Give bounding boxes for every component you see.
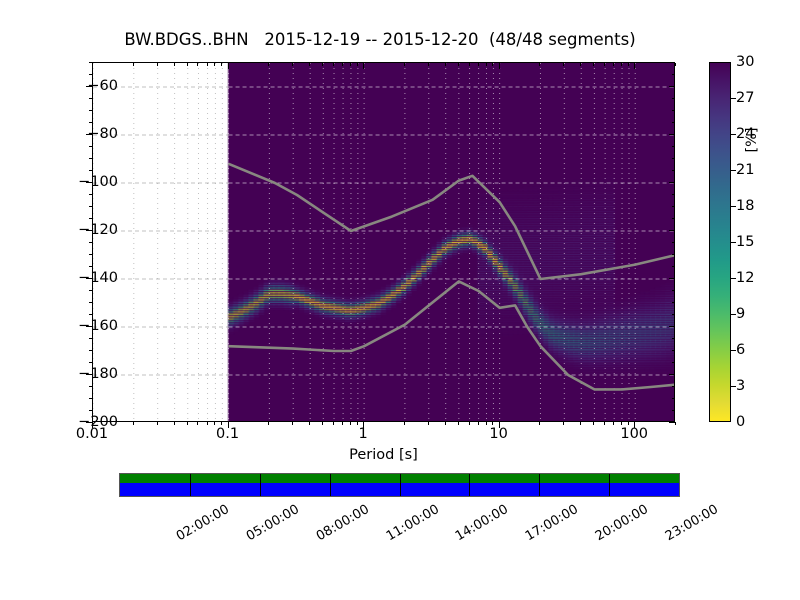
y-minor-tick: [89, 110, 92, 111]
y-minor-tick: [89, 146, 92, 147]
x-minor-tick: [357, 63, 358, 66]
colorbar-tick-label: 12: [736, 270, 796, 286]
coverage-time-label: 05:00:00: [244, 502, 302, 544]
y-tick-mark: [669, 86, 675, 87]
x-minor-tick: [492, 63, 493, 66]
page-title: BW.BDGS..BHN 2015-12-19 -- 2015-12-20 (4…: [0, 30, 760, 49]
x-minor-tick: [613, 63, 614, 66]
y-tick-mark: [669, 326, 675, 327]
colorbar-tick-label: 18: [736, 198, 796, 214]
coverage-separator: [609, 474, 610, 496]
ppsd-density-heatmap: [93, 63, 674, 421]
x-minor-tick: [207, 63, 208, 66]
y-minor-tick: [672, 194, 675, 195]
y-tick-mark: [669, 278, 675, 279]
y-tick-mark: [86, 278, 92, 279]
y-minor-tick: [89, 194, 92, 195]
x-tick-mark: [634, 422, 635, 428]
y-minor-tick: [89, 302, 92, 303]
colorbar-tick-mark: [731, 134, 736, 135]
x-minor-tick: [604, 422, 605, 425]
y-minor-tick: [672, 290, 675, 291]
y-minor-tick: [89, 314, 92, 315]
x-minor-tick: [350, 422, 351, 425]
colorbar-tick-mark: [731, 386, 736, 387]
x-minor-tick: [292, 422, 293, 425]
y-minor-tick: [672, 110, 675, 111]
x-minor-tick: [214, 422, 215, 425]
y-tick-mark: [669, 134, 675, 135]
x-minor-tick: [214, 63, 215, 66]
y-minor-tick: [672, 362, 675, 363]
x-axis-label: Period [s]: [92, 447, 675, 463]
x-minor-tick: [157, 422, 158, 425]
x-minor-tick: [221, 63, 222, 66]
x-minor-tick: [628, 63, 629, 66]
x-minor-tick: [221, 422, 222, 425]
x-minor-tick: [628, 422, 629, 425]
x-minor-tick: [621, 422, 622, 425]
y-minor-tick: [89, 170, 92, 171]
x-tick-mark: [634, 63, 635, 69]
y-minor-tick: [672, 74, 675, 75]
y-minor-tick: [89, 266, 92, 267]
coverage-separator: [539, 474, 540, 496]
y-tick-mark: [86, 374, 92, 375]
y-minor-tick: [89, 98, 92, 99]
y-tick-label: −60: [0, 78, 118, 94]
y-tick-mark: [86, 134, 92, 135]
x-minor-tick: [357, 422, 358, 425]
x-minor-tick: [478, 422, 479, 425]
x-minor-tick: [197, 63, 198, 66]
coverage-time-label: 08:00:00: [314, 502, 372, 544]
x-minor-tick: [404, 422, 405, 425]
y-tick-mark: [86, 86, 92, 87]
ppsd-axes[interactable]: [92, 62, 675, 422]
x-tick-mark: [92, 422, 93, 428]
x-minor-tick: [187, 63, 188, 66]
x-minor-tick: [322, 422, 323, 425]
x-minor-tick: [322, 63, 323, 66]
y-tick-mark: [86, 182, 92, 183]
x-minor-tick: [613, 422, 614, 425]
y-minor-tick: [672, 266, 675, 267]
colorbar-tick-mark: [731, 242, 736, 243]
coverage-time-label: 20:00:00: [593, 502, 651, 544]
x-tick-mark: [228, 63, 229, 69]
x-tick-mark: [228, 422, 229, 428]
x-minor-tick: [675, 63, 676, 66]
x-tick-label: 10: [439, 426, 559, 442]
y-minor-tick: [89, 362, 92, 363]
y-tick-label: −120: [0, 222, 118, 238]
y-minor-tick: [672, 242, 675, 243]
y-minor-tick: [89, 386, 92, 387]
x-minor-tick: [333, 63, 334, 66]
x-minor-tick: [478, 63, 479, 66]
x-tick-mark: [499, 422, 500, 428]
x-minor-tick: [604, 63, 605, 66]
x-minor-tick: [486, 422, 487, 425]
x-minor-tick: [428, 422, 429, 425]
y-minor-tick: [672, 398, 675, 399]
y-minor-tick: [672, 146, 675, 147]
colorbar-tick-mark: [731, 98, 736, 99]
coverage-separator: [260, 474, 261, 496]
coverage-time-label: 02:00:00: [174, 502, 232, 544]
colorbar-tick-mark: [731, 206, 736, 207]
colorbar-tick-mark: [731, 278, 736, 279]
x-minor-tick: [469, 422, 470, 425]
coverage-time-label: 23:00:00: [663, 502, 721, 544]
y-tick-label: −100: [0, 174, 118, 190]
x-minor-tick: [350, 63, 351, 66]
colorbar-tick-label: 0: [736, 414, 796, 430]
y-tick-label: −160: [0, 318, 118, 334]
y-minor-tick: [672, 338, 675, 339]
y-tick-label: −180: [0, 366, 118, 382]
colorbar-tick-label: 30: [736, 54, 796, 70]
y-minor-tick: [89, 398, 92, 399]
coverage-time-label: 14:00:00: [453, 502, 511, 544]
x-minor-tick: [133, 63, 134, 66]
y-minor-tick: [672, 302, 675, 303]
x-minor-tick: [445, 422, 446, 425]
x-minor-tick: [309, 422, 310, 425]
x-minor-tick: [445, 63, 446, 66]
x-minor-tick: [593, 422, 594, 425]
y-minor-tick: [89, 218, 92, 219]
y-minor-tick: [672, 206, 675, 207]
y-tick-mark: [86, 326, 92, 327]
y-tick-label: −80: [0, 126, 118, 142]
colorbar-label: [%]: [744, 80, 760, 200]
y-minor-tick: [672, 122, 675, 123]
x-minor-tick: [174, 422, 175, 425]
x-minor-tick: [197, 422, 198, 425]
x-minor-tick: [268, 63, 269, 66]
y-minor-tick: [89, 290, 92, 291]
colorbar-tick-label: 15: [736, 234, 796, 250]
y-minor-tick: [672, 254, 675, 255]
x-minor-tick: [342, 63, 343, 66]
x-minor-tick: [428, 63, 429, 66]
y-minor-tick: [89, 338, 92, 339]
y-minor-tick: [89, 350, 92, 351]
colorbar-tick-mark: [731, 170, 736, 171]
x-minor-tick: [342, 422, 343, 425]
y-minor-tick: [672, 386, 675, 387]
y-minor-tick: [89, 158, 92, 159]
y-tick-mark: [669, 230, 675, 231]
coverage-separator: [469, 474, 470, 496]
x-minor-tick: [621, 63, 622, 66]
x-tick-label: 1: [303, 426, 423, 442]
y-minor-tick: [89, 74, 92, 75]
x-minor-tick: [580, 63, 581, 66]
data-coverage-bar[interactable]: [119, 473, 680, 497]
x-minor-tick: [187, 422, 188, 425]
x-minor-tick: [469, 63, 470, 66]
x-minor-tick: [492, 422, 493, 425]
y-minor-tick: [672, 170, 675, 171]
x-minor-tick: [593, 63, 594, 66]
colorbar-tick-label: 9: [736, 306, 796, 322]
x-minor-tick: [539, 422, 540, 425]
x-minor-tick: [133, 422, 134, 425]
y-minor-tick: [89, 122, 92, 123]
ppsd-figure: BW.BDGS..BHN 2015-12-19 -- 2015-12-20 (4…: [0, 0, 800, 600]
x-minor-tick: [333, 422, 334, 425]
x-tick-label: 0.01: [32, 426, 152, 442]
colorbar-tick-mark: [731, 314, 736, 315]
y-minor-tick: [89, 254, 92, 255]
y-tick-mark: [669, 374, 675, 375]
x-minor-tick: [207, 422, 208, 425]
x-tick-mark: [363, 63, 364, 69]
coverage-time-label: 17:00:00: [523, 502, 581, 544]
coverage-time-label: 11:00:00: [383, 502, 441, 544]
colorbar[interactable]: [709, 62, 731, 422]
x-minor-tick: [309, 63, 310, 66]
x-minor-tick: [458, 422, 459, 425]
coverage-separator: [400, 474, 401, 496]
y-minor-tick: [89, 242, 92, 243]
x-minor-tick: [563, 63, 564, 66]
y-minor-tick: [672, 350, 675, 351]
x-minor-tick: [539, 63, 540, 66]
colorbar-tick-label: 6: [736, 342, 796, 358]
x-tick-label: 100: [574, 426, 694, 442]
x-minor-tick: [174, 63, 175, 66]
coverage-separator: [190, 474, 191, 496]
x-minor-tick: [268, 422, 269, 425]
y-minor-tick: [672, 158, 675, 159]
x-tick-mark: [363, 422, 364, 428]
x-minor-tick: [404, 63, 405, 66]
x-minor-tick: [458, 63, 459, 66]
x-minor-tick: [675, 422, 676, 425]
x-minor-tick: [486, 63, 487, 66]
coverage-separator: [330, 474, 331, 496]
colorbar-tick-label: 3: [736, 378, 796, 394]
y-minor-tick: [89, 410, 92, 411]
y-minor-tick: [672, 314, 675, 315]
x-minor-tick: [157, 63, 158, 66]
x-tick-label: 0.1: [168, 426, 288, 442]
x-minor-tick: [580, 422, 581, 425]
y-minor-tick: [672, 218, 675, 219]
colorbar-tick-mark: [731, 350, 736, 351]
x-tick-mark: [499, 63, 500, 69]
y-minor-tick: [672, 410, 675, 411]
y-minor-tick: [672, 98, 675, 99]
y-tick-label: −140: [0, 270, 118, 286]
y-tick-mark: [86, 230, 92, 231]
x-tick-mark: [92, 63, 93, 69]
x-minor-tick: [292, 63, 293, 66]
x-minor-tick: [563, 422, 564, 425]
y-minor-tick: [89, 206, 92, 207]
y-tick-mark: [669, 182, 675, 183]
